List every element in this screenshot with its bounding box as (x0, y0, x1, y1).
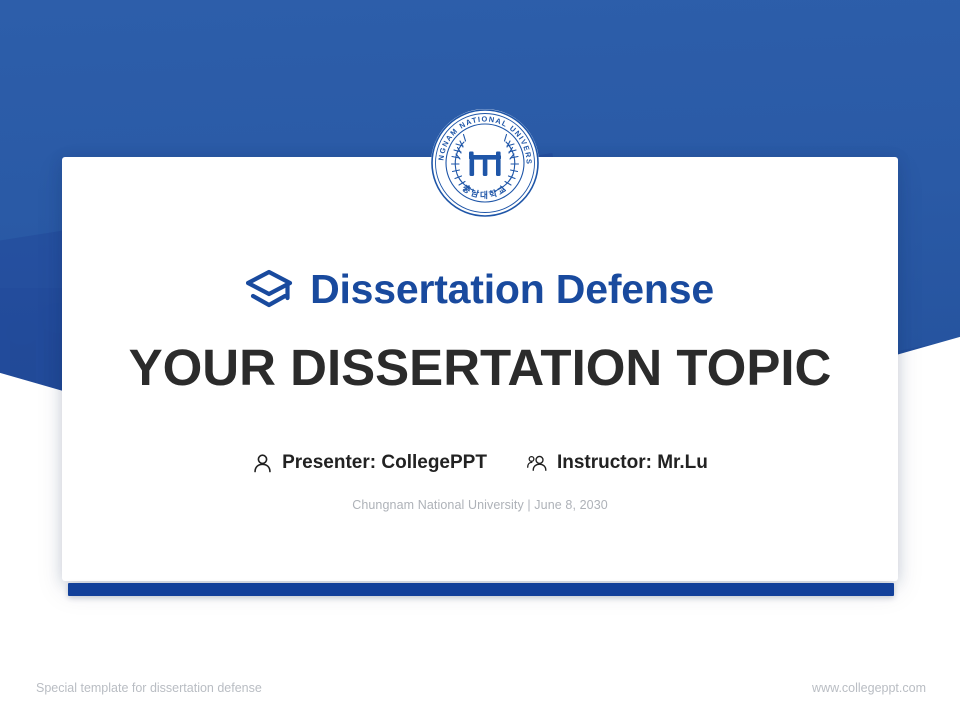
people-row: Presenter: CollegePPT Instructor: Mr.Lu (62, 452, 898, 474)
graduation-cap-icon (246, 268, 294, 310)
footer-left-text: Special template for dissertation defens… (36, 681, 262, 695)
instructor-label: Instructor: Mr.Lu (557, 452, 708, 474)
presenter-label: Presenter: CollegePPT (282, 452, 487, 474)
card-accent-bar (68, 583, 894, 596)
presentation-slide: CHUNGNAM NATIONAL UNIVERSITY 충남대학교 (0, 0, 960, 720)
person-icon (252, 453, 273, 474)
slide-meta-line: Chungnam National University | June 8, 2… (62, 498, 898, 512)
page-title: Dissertation Defense (310, 269, 714, 310)
chungnam-national-university-seal-icon: CHUNGNAM NATIONAL UNIVERSITY 충남대학교 (430, 108, 540, 218)
people-group-icon (527, 453, 548, 474)
slide-title-row: Dissertation Defense (62, 268, 898, 310)
dissertation-topic: YOUR DISSERTATION TOPIC (62, 340, 898, 395)
instructor-entry: Instructor: Mr.Lu (527, 452, 708, 474)
presenter-entry: Presenter: CollegePPT (252, 452, 487, 474)
footer-right-text: www.collegeppt.com (812, 681, 926, 695)
